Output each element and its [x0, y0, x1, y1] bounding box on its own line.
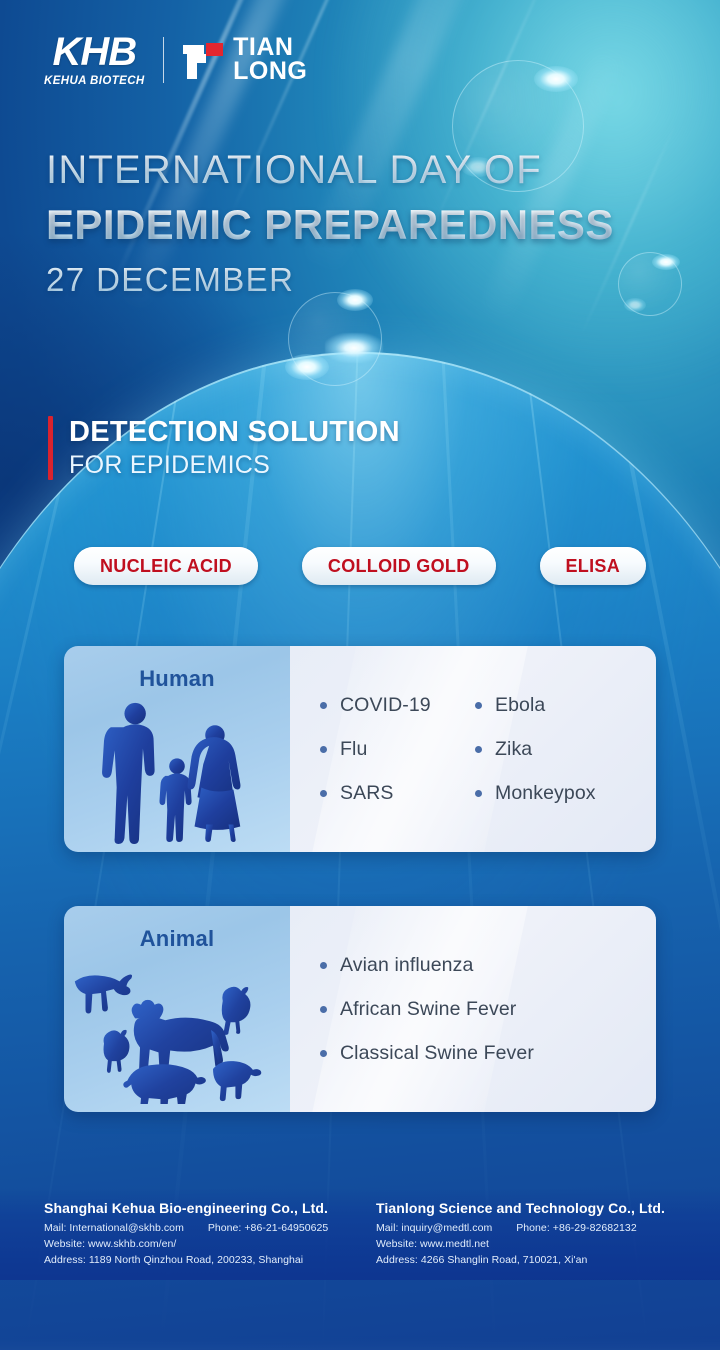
disease-name: Monkeypox [495, 782, 596, 805]
footer-website-line: Website: www.medtl.net [376, 1237, 690, 1253]
disease-item: Classical Swine Fever [320, 1042, 630, 1065]
disease-item: Zika [475, 738, 630, 761]
disease-name: SARS [340, 782, 394, 805]
disease-item: Flu [320, 738, 475, 761]
bubble-medium [288, 292, 382, 386]
khb-wordmark: KHB [52, 32, 136, 72]
footer-address-line: Address: 1189 North Qinzhou Road, 200233… [44, 1253, 358, 1269]
method-pill-label: ELISA [566, 556, 621, 577]
footer-mail-label: Mail: [376, 1222, 398, 1234]
logo-divider [163, 37, 165, 83]
disease-name: Flu [340, 738, 367, 761]
farm-animals-silhouette [64, 958, 290, 1104]
title-line-international-day-of: INTERNATIONAL DAY OF [46, 148, 614, 193]
section-accent-bar [48, 416, 53, 480]
footer: Shanghai Kehua Bio-engineering Co., Ltd.… [0, 1188, 720, 1280]
human-family-silhouette [64, 698, 290, 844]
footer-phone-value[interactable]: +86-21-64950625 [244, 1222, 328, 1234]
bullet-icon [320, 962, 327, 969]
card-animal-illustration-panel: Animal [64, 906, 290, 1112]
disease-item: African Swine Fever [320, 998, 630, 1021]
footer-website-value[interactable]: www.medtl.net [420, 1238, 489, 1250]
poster-title: INTERNATIONAL DAY OF EPIDEMIC PREPAREDNE… [46, 148, 614, 299]
section-heading: DETECTION SOLUTION FOR EPIDEMICS [48, 416, 400, 480]
footer-website-label: Website: [376, 1238, 417, 1250]
section-heading-sub: FOR EPIDEMICS [69, 451, 400, 480]
method-pill-group: NUCLEIC ACID COLLOID GOLD ELISA [0, 547, 720, 585]
footer-contact-line: Mail: International@skhb.com Phone: +86-… [44, 1221, 358, 1237]
method-pill-elisa[interactable]: ELISA [540, 547, 647, 585]
card-animal-title: Animal [64, 926, 290, 952]
footer-website-value[interactable]: www.skhb.com/en/ [88, 1238, 176, 1250]
footer-address-label: Address: [376, 1254, 418, 1266]
tianlong-wordmark: TIAN LONG [233, 36, 307, 84]
method-pill-label: NUCLEIC ACID [100, 556, 232, 577]
bullet-icon [320, 746, 327, 753]
footer-phone-value[interactable]: +86-29-82682132 [553, 1222, 637, 1234]
footer-website-label: Website: [44, 1238, 85, 1250]
method-pill-label: COLLOID GOLD [328, 556, 470, 577]
footer-company-name: Shanghai Kehua Bio-engineering Co., Ltd. [44, 1200, 358, 1216]
disease-item: Ebola [475, 694, 630, 717]
disease-name: Avian influenza [340, 954, 473, 977]
footer-phone-label: Phone: [516, 1222, 550, 1234]
bubble-small [618, 252, 682, 316]
disease-name: Ebola [495, 694, 545, 717]
khb-logo: KHB KEHUA BIOTECH [44, 32, 145, 87]
method-pill-nucleic-acid[interactable]: NUCLEIC ACID [74, 547, 258, 585]
footer-phone-label: Phone: [208, 1222, 242, 1234]
footer-mail-value[interactable]: inquiry@medtl.com [401, 1222, 492, 1234]
card-human-disease-list: COVID-19 Ebola Flu Zika SARS Monkeypox [290, 646, 656, 852]
footer-address-line: Address: 4266 Shanglin Road, 710021, Xi'… [376, 1253, 690, 1269]
bullet-icon [475, 702, 482, 709]
footer-mail-value[interactable]: International@skhb.com [69, 1222, 183, 1234]
footer-address-label: Address: [44, 1254, 86, 1266]
title-line-date: 27 DECEMBER [46, 261, 614, 299]
footer-mail-label: Mail: [44, 1222, 66, 1234]
category-card-human: Human [64, 646, 656, 852]
card-human-title: Human [64, 666, 290, 692]
bullet-icon [475, 790, 482, 797]
card-human-illustration-panel: Human [64, 646, 290, 852]
footer-address-value: 1189 North Qinzhou Road, 200233, Shangha… [89, 1254, 303, 1266]
tianlong-line-1: TIAN [233, 36, 307, 60]
method-pill-colloid-gold[interactable]: COLLOID GOLD [302, 547, 496, 585]
title-line-epidemic-preparedness: EPIDEMIC PREPAREDNESS [46, 201, 614, 249]
khb-tagline: KEHUA BIOTECH [44, 75, 145, 87]
footer-company-name: Tianlong Science and Technology Co., Ltd… [376, 1200, 690, 1216]
brand-logos: KHB KEHUA BIOTECH TIAN LONG [44, 32, 307, 87]
footer-website-line: Website: www.skhb.com/en/ [44, 1237, 358, 1253]
card-animal-disease-list: Avian influenza African Swine Fever Clas… [290, 906, 656, 1112]
disease-item: SARS [320, 782, 475, 805]
disease-item: Avian influenza [320, 954, 630, 977]
disease-name: Classical Swine Fever [340, 1042, 534, 1065]
tianlong-logo-mark [182, 39, 224, 81]
disease-name: African Swine Fever [340, 998, 516, 1021]
footer-company-tianlong: Tianlong Science and Technology Co., Ltd… [358, 1200, 690, 1269]
tianlong-line-2: LONG [233, 60, 307, 84]
footer-address-value: 4266 Shanglin Road, 710021, Xi'an [421, 1254, 588, 1266]
bullet-icon [320, 702, 327, 709]
disease-name: COVID-19 [340, 694, 431, 717]
tianlong-logo: TIAN LONG [182, 36, 307, 84]
category-card-animal: Animal [64, 906, 656, 1112]
disease-name: Zika [495, 738, 532, 761]
disease-item: Monkeypox [475, 782, 630, 805]
footer-contact-line: Mail: inquiry@medtl.com Phone: +86-29-82… [376, 1221, 690, 1237]
bullet-icon [320, 1006, 327, 1013]
bullet-icon [320, 1050, 327, 1057]
bullet-icon [475, 746, 482, 753]
section-heading-main: DETECTION SOLUTION [69, 416, 400, 448]
bullet-icon [320, 790, 327, 797]
footer-company-shanghai-kehua: Shanghai Kehua Bio-engineering Co., Ltd.… [44, 1200, 358, 1269]
disease-item: COVID-19 [320, 694, 475, 717]
